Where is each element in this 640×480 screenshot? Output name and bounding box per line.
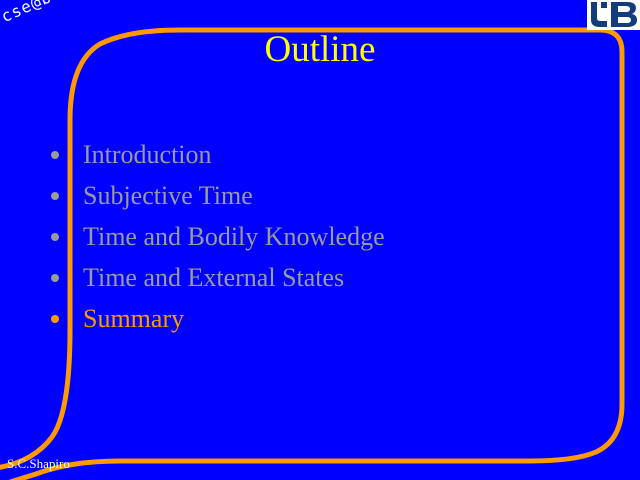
cse-buffalo-wordmark: cse@buffalo — [0, 0, 113, 26]
list-item[interactable]: Subjective Time — [48, 175, 588, 216]
ub-logo — [587, 0, 640, 30]
ub-logo-mark — [587, 0, 640, 30]
bullet-dot-icon — [51, 151, 59, 159]
list-item[interactable]: Time and External States — [48, 257, 588, 298]
list-item[interactable]: Time and Bodily Knowledge — [48, 216, 588, 257]
list-item[interactable]: Introduction — [48, 134, 588, 175]
slide-title: Outline — [0, 28, 640, 72]
list-item-label: Time and External States — [83, 263, 344, 292]
presentation-slide: cse@buffalo Outline Introduction Subject… — [0, 0, 640, 480]
list-item[interactable]: Summary — [48, 298, 588, 339]
list-item-label: Time and Bodily Knowledge — [83, 222, 385, 251]
list-item-label: Summary — [83, 304, 184, 333]
bullet-dot-icon — [51, 274, 59, 282]
bullet-dot-icon — [51, 233, 59, 241]
bullet-dot-icon — [51, 315, 59, 323]
outline-bullet-list: Introduction Subjective Time Time and Bo… — [48, 134, 588, 339]
bullet-dot-icon — [51, 192, 59, 200]
footer-author: S.C.Shapiro — [7, 456, 70, 472]
list-item-label: Subjective Time — [83, 181, 253, 210]
list-item-label: Introduction — [83, 140, 212, 169]
